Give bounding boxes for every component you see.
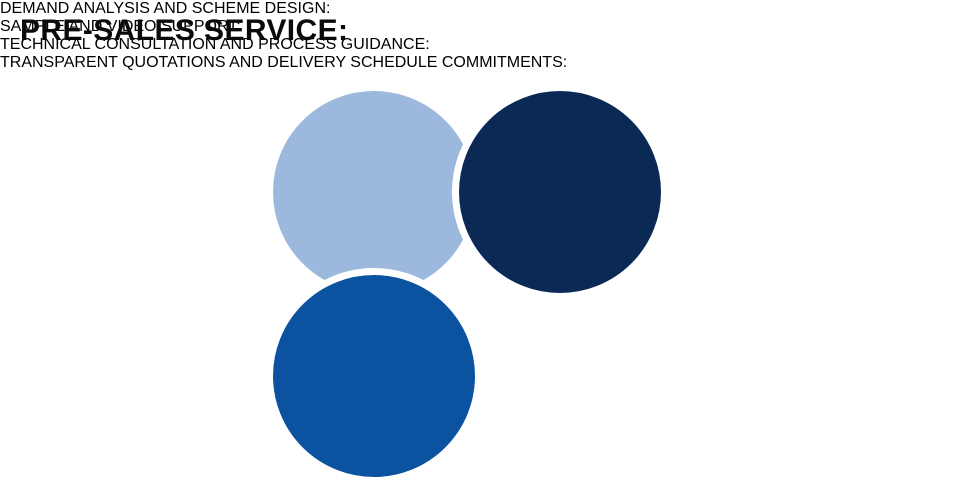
page-title: PRE-SALES SERVICE: (20, 14, 348, 47)
node-sample-support[interactable] (266, 268, 482, 484)
node-transparent-quotations[interactable] (480, 78, 494, 110)
infographic-page: PRE-SALES SERVICE: DEMAND ANALYSIS AND S… (0, 0, 960, 498)
node-technical-consultation[interactable] (452, 84, 668, 300)
circle-cluster (262, 78, 672, 490)
label-transparent-quotations: TRANSPARENT QUOTATIONS AND DELIVERY SCHE… (0, 54, 960, 72)
